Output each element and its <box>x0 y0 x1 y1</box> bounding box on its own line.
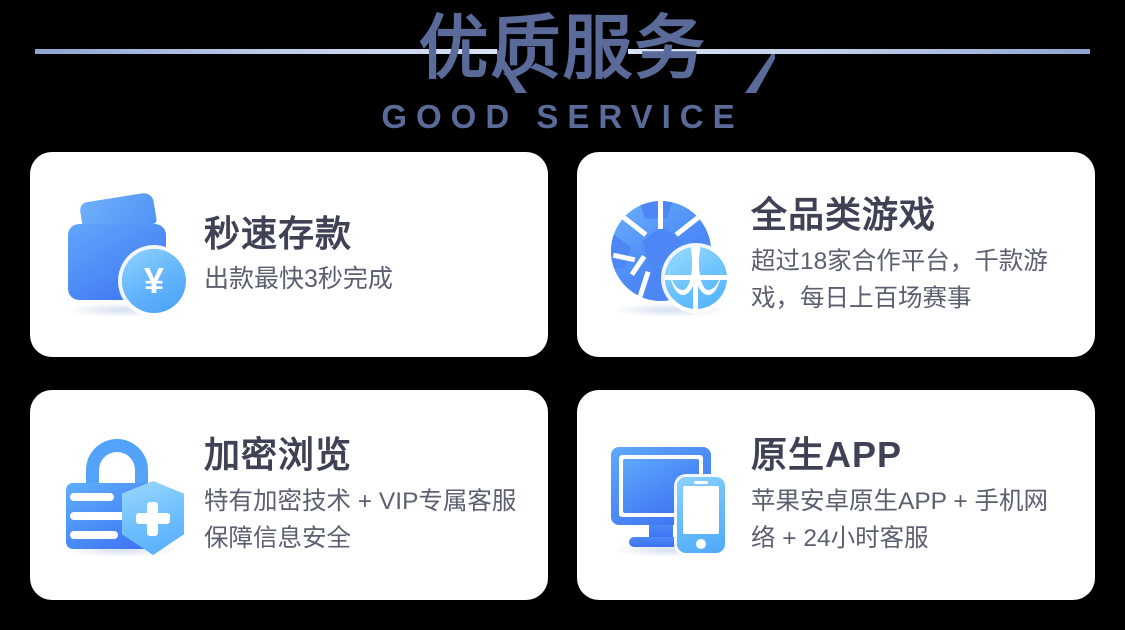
feature-card-grid: ¥ 秒速存款 出款最快3秒完成 <box>30 152 1095 600</box>
phone-speaker <box>694 481 708 484</box>
feature-card-encryption[interactable]: 加密浏览 特有加密技术 + VIP专属客服保障信息安全 <box>30 390 548 600</box>
lock-slot <box>70 493 114 501</box>
page-title: 优质服务 <box>0 6 1125 90</box>
soccer-seam <box>675 214 702 236</box>
soccer-pentagon <box>638 201 674 219</box>
soccer-seam <box>621 214 648 236</box>
lock-shield-icon <box>60 431 188 559</box>
card-title: 原生APP <box>751 433 1069 477</box>
shield-cross-icon <box>147 502 158 536</box>
card-description: 出款最快3秒完成 <box>204 262 522 297</box>
feature-text-block: 全品类游戏 超过18家合作平台，千款游戏，每日上百场赛事 <box>751 193 1069 317</box>
page-subtitle: GOOD SERVICE <box>0 98 1125 136</box>
soccer-seam <box>658 201 663 229</box>
yen-symbol: ¥ <box>122 249 186 313</box>
feature-text-block: 加密浏览 特有加密技术 + VIP专属客服保障信息安全 <box>204 433 522 557</box>
basketball-curve <box>694 247 722 295</box>
yen-coin-icon: ¥ <box>122 249 186 313</box>
card-description: 苹果安卓原生APP + 手机网络 + 24小时客服 <box>751 483 1069 557</box>
page-header: 优质服务 GOOD SERVICE <box>0 0 1125 148</box>
basketball-icon <box>665 247 727 309</box>
feature-text-block: 秒速存款 出款最快3秒完成 <box>204 212 522 297</box>
page-root: 优质服务 GOOD SERVICE ¥ 秒速存款 出款最快3秒完成 <box>0 0 1125 630</box>
feature-card-deposit[interactable]: ¥ 秒速存款 出款最快3秒完成 <box>30 152 548 357</box>
monitor-phone-icon <box>607 431 735 559</box>
phone-home-button <box>696 539 706 549</box>
feature-card-native-app[interactable]: 原生APP 苹果安卓原生APP + 手机网络 + 24小时客服 <box>577 390 1095 600</box>
card-title: 加密浏览 <box>204 433 522 477</box>
lock-slot <box>70 531 118 539</box>
phone-screen <box>683 486 719 534</box>
soccer-basketball-icon <box>607 191 735 319</box>
feature-text-block: 原生APP 苹果安卓原生APP + 手机网络 + 24小时客服 <box>751 433 1069 557</box>
feature-card-games[interactable]: 全品类游戏 超过18家合作平台，千款游戏，每日上百场赛事 <box>577 152 1095 357</box>
card-description: 特有加密技术 + VIP专属客服保障信息安全 <box>204 483 522 557</box>
card-title: 秒速存款 <box>204 212 522 256</box>
card-title: 全品类游戏 <box>751 193 1069 237</box>
wallet-yen-icon: ¥ <box>60 191 188 319</box>
phone-icon <box>677 477 725 553</box>
card-description: 超过18家合作平台，千款游戏，每日上百场赛事 <box>751 243 1069 317</box>
soccer-pentagon <box>611 235 631 269</box>
